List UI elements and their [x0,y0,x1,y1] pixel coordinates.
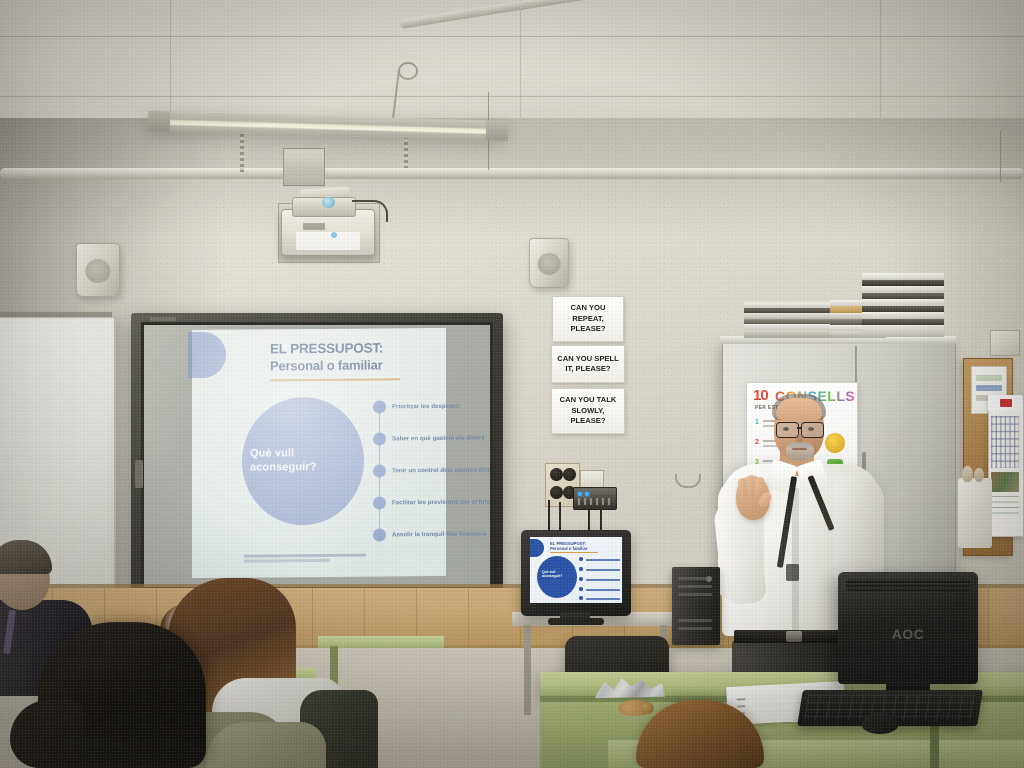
sign-line: REPEAT, [570,314,605,325]
mirror-bullet-marker [579,557,583,561]
sign-line: CAN YOU [570,303,605,314]
power-socket[interactable] [550,468,563,481]
mirror-slide-rule [550,552,598,553]
snack-nuts [640,702,654,714]
sign-line: PLEASE? [560,416,617,427]
ceiling-seam [0,96,1024,97]
monitor-vent [846,579,970,591]
projector-power-indicator [331,232,337,238]
calendar-date-grid [991,416,1019,468]
book-stack-right [862,273,944,337]
sign-line: IT, PLEASE? [557,364,618,375]
ceiling-seam [0,36,1024,37]
wall-shelf-box [958,478,992,548]
mirror-bullet-marker [579,587,583,591]
wall-sign-spell: CAN YOU SPELL IT, PLEASE? [551,345,625,383]
computer-power-button[interactable] [706,576,712,582]
monitor-base [548,618,604,625]
light-chain [240,128,244,172]
sign-line: SLOWLY, [560,406,617,417]
ceiling-seam [520,0,521,130]
whiteboard-top-rail [0,312,112,317]
ceiling-conduit-pipe [0,168,1024,179]
calendar-photo [991,472,1019,492]
projector-cable [352,200,388,222]
wall-speaker-left [76,243,120,297]
wall-sign-repeat: CAN YOU REPEAT, PLEASE? [552,296,624,342]
student-front-left-ponytail [10,700,84,768]
board-pen-tray [135,460,143,488]
mouse[interactable] [862,712,898,734]
projector-lens-icon [322,197,335,208]
mirror-slide-question: Què vull aconseguir? [542,570,572,579]
conduit-junction-box [283,148,325,186]
presenter-mustache [788,442,812,448]
desk-leg [524,625,531,715]
mirror-bullet-text [586,569,620,571]
ceiling-seam [880,0,881,130]
ceiling-seam [170,0,171,130]
projector-label-sticker [296,232,360,250]
power-socket[interactable] [563,468,576,481]
power-socket[interactable] [550,486,563,499]
ceiling-wire [1000,130,1001,182]
av-control-box-ports [578,498,610,505]
presenter-forehead [776,398,822,420]
presenter-shirt-placket [792,488,799,634]
student-front-left-shoulder [206,722,326,768]
wall-speaker-right [529,238,569,288]
wall-device [990,330,1020,356]
ceiling-hook-icon [398,62,418,80]
eyeglasses-bridge [797,427,802,429]
board-brand-badge [150,317,176,321]
shelf-object [974,468,984,482]
mirror-slide-lobe [530,539,544,557]
presenter-badge [786,564,799,581]
status-led [578,492,582,496]
presenter-hand-gesture [736,476,770,520]
mirror-bullet-marker [579,567,583,571]
wall-sign-slowly: CAN YOU TALK SLOWLY, PLEASE? [551,388,625,434]
speaker-cone-icon [85,259,110,283]
computer-tower[interactable] [672,567,720,645]
sign-line: PLEASE? [570,324,605,335]
mirror-bullet-text [586,579,620,581]
shelf-object [962,466,973,482]
mirror-bullet-marker [579,596,583,600]
presenter-belt-buckle [786,631,802,642]
calendar-logo-icon [1000,399,1012,407]
mirror-bullet-text [586,589,620,591]
eyeglasses-icon [801,422,824,438]
mirror-bullet-text [586,598,620,600]
speaker-cone-icon [538,253,561,275]
projector-brand-badge [303,223,325,230]
sign-line: CAN YOU SPELL [557,354,618,365]
mirror-bullet-marker [579,577,583,581]
classroom-photo: EL PRESSUPOST: Personal o familiar Què v… [0,0,1024,768]
book-stack-left [744,302,836,338]
mirror-bullet-text [586,559,620,561]
sign-line: CAN YOU TALK [560,395,617,406]
teacher-monitor-screen[interactable]: EL PRESSUPOST: Personal o familiar Què v… [530,537,622,603]
mirror-slide-title: EL PRESSUPOST: Personal o familiar [550,541,614,551]
status-led [585,492,589,496]
projector-glare [192,329,446,577]
aoc-brand-logo: AOC [887,626,929,641]
calendar-footer-grid [991,496,1019,518]
projection-screen: EL PRESSUPOST: Personal o familiar Què v… [144,325,490,587]
